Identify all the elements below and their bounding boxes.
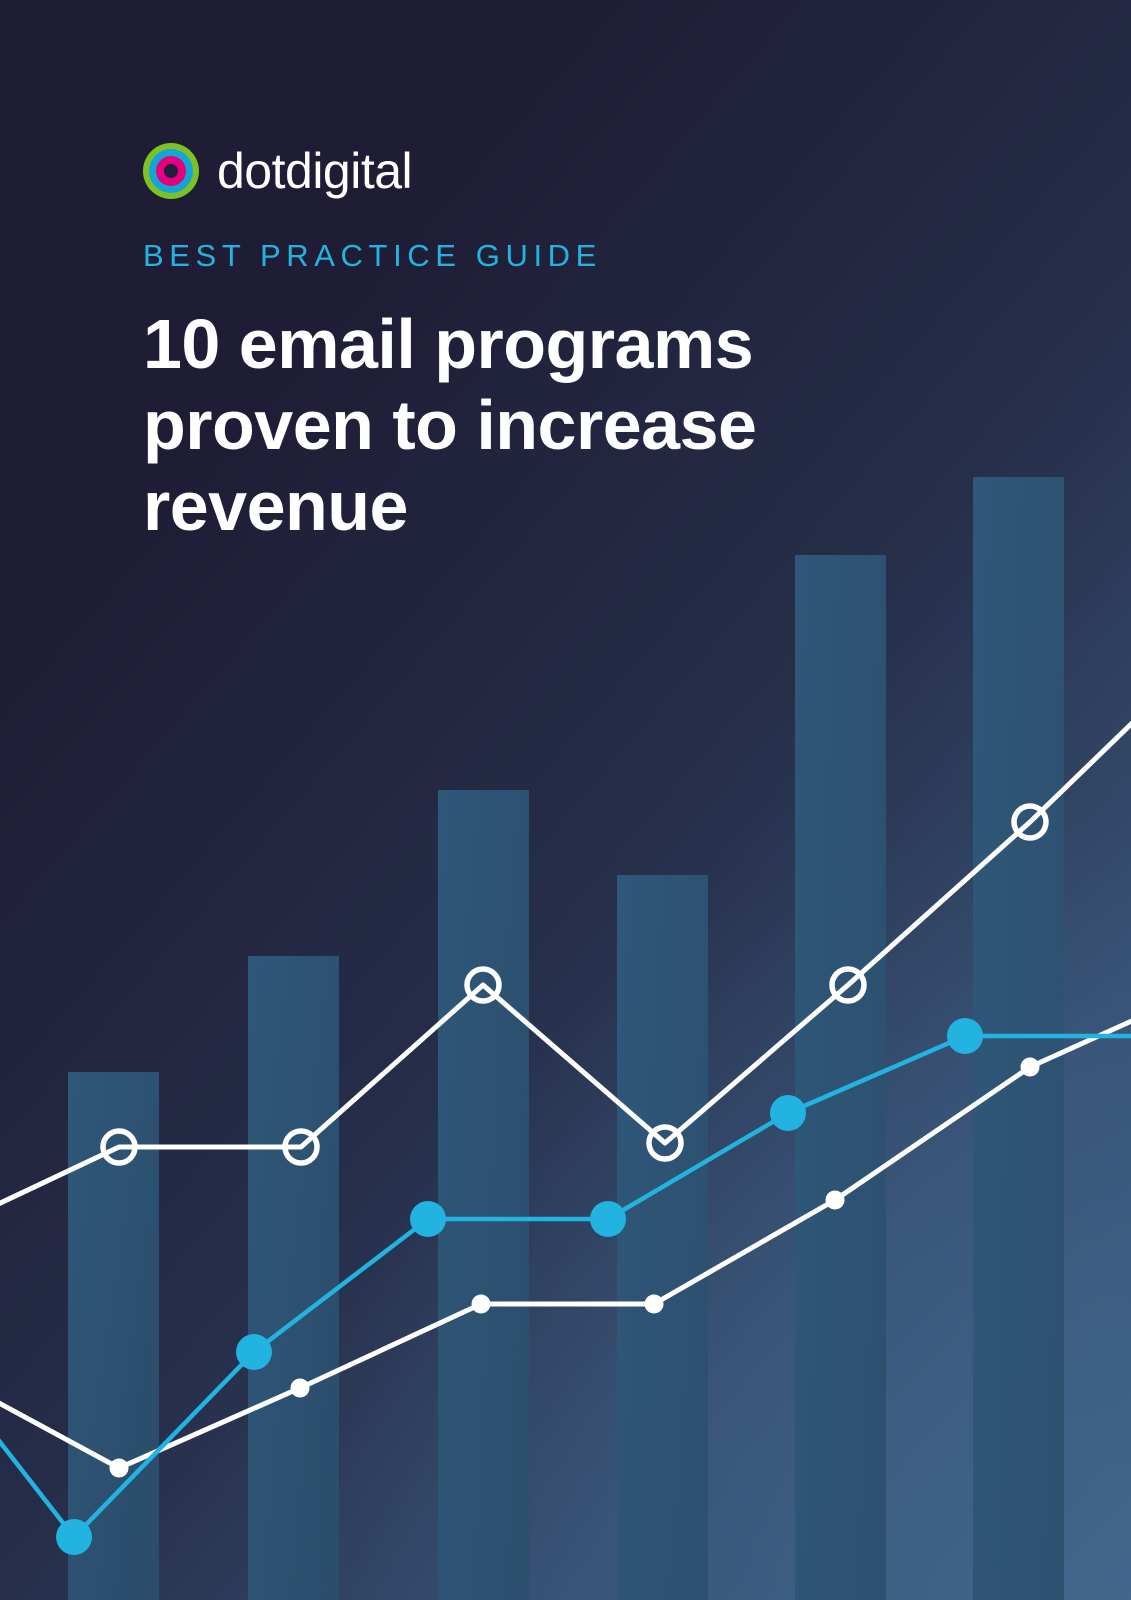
chart-bars: [68, 477, 1064, 1600]
chart-marker: [826, 1191, 845, 1210]
chart-markers: [56, 806, 1046, 1555]
chart-marker: [110, 1459, 129, 1478]
chart-marker: [410, 1201, 446, 1237]
chart-bar: [973, 477, 1064, 1600]
page-title: 10 email programs proven to increase rev…: [143, 304, 843, 548]
chart-marker: [56, 1519, 92, 1555]
cover-header: dotdigital BEST PRACTICE GUIDE 10 email …: [143, 140, 903, 548]
chart-marker: [770, 1095, 806, 1131]
chart-line-white-outline-line: [0, 700, 1131, 1215]
chart-marker: [947, 1018, 983, 1054]
chart-marker: [590, 1201, 626, 1237]
chart-bar: [248, 956, 339, 1600]
cover-page: dotdigital BEST PRACTICE GUIDE 10 email …: [0, 0, 1131, 1600]
guide-eyebrow: BEST PRACTICE GUIDE: [143, 238, 903, 274]
chart-marker: [645, 1295, 664, 1314]
chart-bar: [617, 875, 708, 1600]
chart-lines: [0, 700, 1131, 1537]
chart-line-white-dot-line: [0, 1010, 1131, 1468]
chart-marker: [1021, 1058, 1040, 1077]
chart-bar: [438, 790, 529, 1600]
brand-name: dotdigital: [217, 146, 412, 196]
dotdigital-target-logo-icon: [143, 143, 199, 199]
chart-marker: [472, 1295, 491, 1314]
chart-marker: [236, 1334, 272, 1370]
brand-lockup: dotdigital: [143, 140, 903, 202]
chart-marker: [291, 1379, 310, 1398]
